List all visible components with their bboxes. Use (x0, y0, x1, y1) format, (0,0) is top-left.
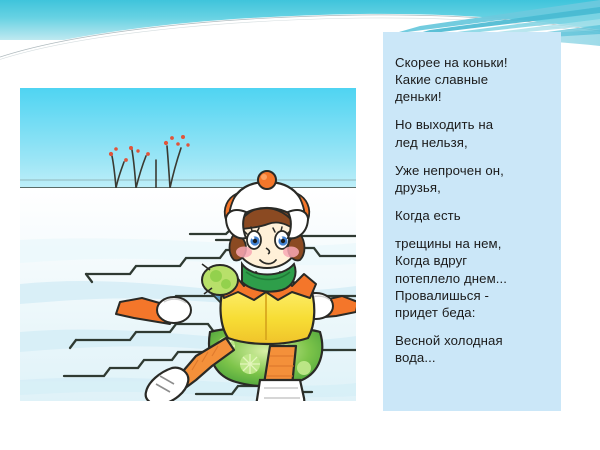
winter-poem-text-box: Скорее на коньки! Какие славные деньки! … (383, 32, 561, 411)
left-mitten (157, 297, 191, 323)
illustration-ice-skating-girl (20, 88, 356, 401)
presentation-slide: Скорее на коньки! Какие славные деньки! … (0, 0, 600, 450)
cheek-right (283, 247, 299, 258)
poem-stanza-5: трещины на нем, Когда вдруг потеплело дн… (395, 235, 551, 321)
poem-stanza-3: Уже непрочен он, друзья, (395, 162, 551, 196)
hat-pompom (258, 171, 276, 189)
right-skate (252, 380, 308, 401)
cheek-left (236, 247, 252, 258)
poem-stanza-2: Но выходить на лед нельзя, (395, 116, 551, 150)
poem-stanza-4: Когда есть (395, 207, 551, 224)
scarf-bow (202, 264, 238, 295)
poem-stanza-1: Скорее на коньки! Какие славные деньки! (395, 54, 551, 105)
poem-stanza-6: Весной холодная вода... (395, 332, 551, 366)
